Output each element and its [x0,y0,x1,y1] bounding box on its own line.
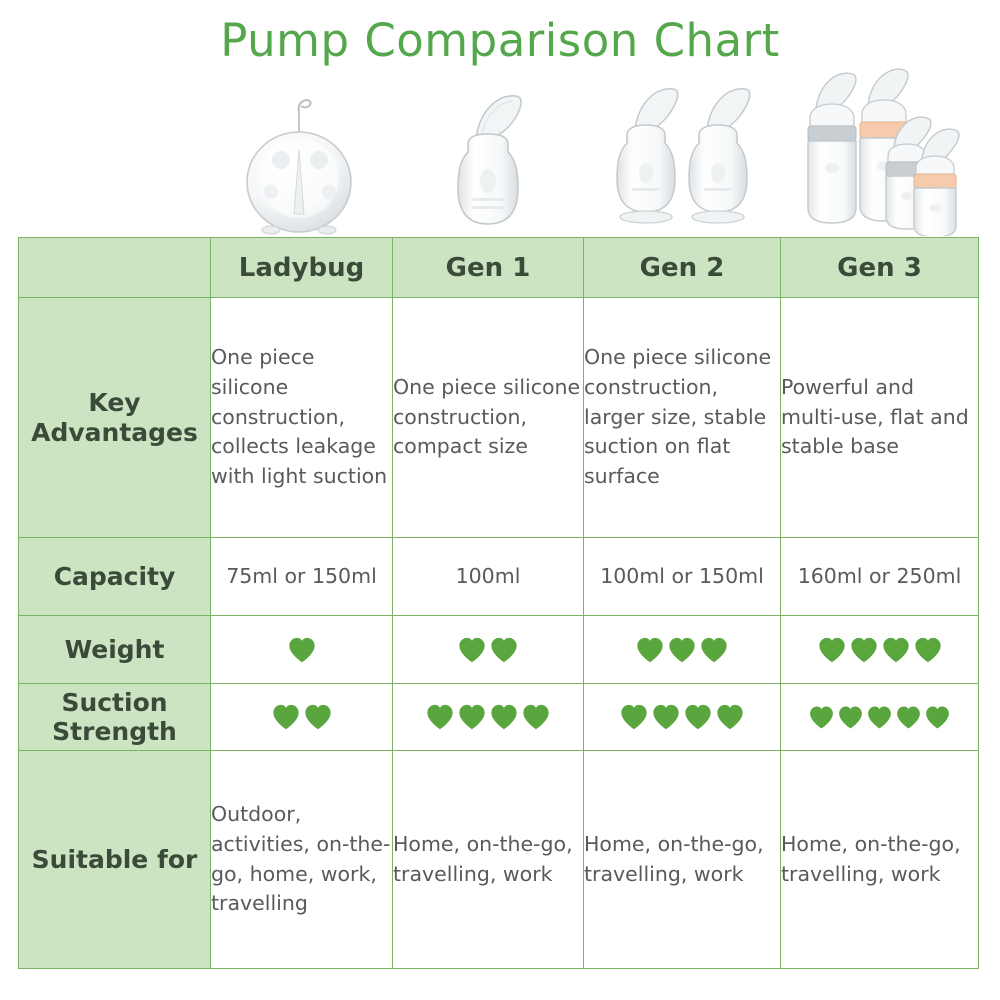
heart-icon [635,635,665,665]
heart-icon [715,702,745,732]
table-row-capacity: Capacity 75ml or 150ml 100ml 100ml or 15… [19,538,979,616]
cell-suction-gen3 [781,684,979,751]
header-gen3: Gen 3 [781,238,979,298]
cell-capacity-ladybug: 75ml or 150ml [211,538,393,616]
header-blank-corner [19,238,211,298]
heart-icon [913,635,943,665]
product-image-gen1 [392,66,583,236]
row-label-suction-strength: Suction Strength [19,684,211,751]
heart-icon [457,702,487,732]
cell-weight-gen3 [781,616,979,684]
cell-key-advantages-gen2: One piece silicone construction, larger … [584,298,781,538]
table-header-row: Ladybug Gen 1 Gen 2 Gen 3 [19,238,979,298]
cell-suction-gen1 [393,684,584,751]
heart-icon [271,702,301,732]
heart-icon [924,704,951,731]
row-label-weight: Weight [19,616,211,684]
row-label-suitable-for: Suitable for [19,751,211,969]
cell-suitable-gen1: Home, on-the-go, travelling, work [393,751,584,969]
heart-icon [303,702,333,732]
cell-weight-gen2 [584,616,781,684]
cell-weight-gen1 [393,616,584,684]
header-ladybug: Ladybug [211,238,393,298]
heart-icon [651,702,681,732]
heart-icon [817,635,847,665]
product-image-ladybug [210,66,392,236]
product-image-strip [18,66,978,236]
heart-icon [683,702,713,732]
heart-icon [699,635,729,665]
cell-capacity-gen2: 100ml or 150ml [584,538,781,616]
product-image-gen2 [583,66,780,236]
heart-icon [895,704,922,731]
cell-weight-ladybug [211,616,393,684]
product-image-gen3 [780,66,978,236]
heart-icon [808,704,835,731]
cell-key-advantages-gen3: Powerful and multi-use, flat and stable … [781,298,979,538]
heart-icon [489,702,519,732]
heart-icon [521,702,551,732]
page-title: Pump Comparison Chart [0,14,1000,67]
header-gen2: Gen 2 [584,238,781,298]
heart-icon [489,635,519,665]
pump-comparison-page: Pump Comparison Chart [0,0,1000,1000]
heart-icon [287,635,317,665]
heart-icon [849,635,879,665]
heart-icon [457,635,487,665]
cell-suitable-gen3: Home, on-the-go, travelling, work [781,751,979,969]
heart-icon [619,702,649,732]
row-label-capacity: Capacity [19,538,211,616]
table-row-weight: Weight [19,616,979,684]
table-row-suitable-for: Suitable for Outdoor, activities, on-the… [19,751,979,969]
heart-icon [667,635,697,665]
header-gen1: Gen 1 [393,238,584,298]
table-row-key-advantages: Key Advantages One piece silicone constr… [19,298,979,538]
comparison-table: Ladybug Gen 1 Gen 2 Gen 3 Key Advantages… [18,237,979,969]
cell-capacity-gen3: 160ml or 250ml [781,538,979,616]
table-row-suction-strength: Suction Strength [19,684,979,751]
heart-icon [837,704,864,731]
cell-key-advantages-gen1: One piece silicone construction, compact… [393,298,584,538]
cell-suction-gen2 [584,684,781,751]
cell-capacity-gen1: 100ml [393,538,584,616]
cell-suction-ladybug [211,684,393,751]
heart-icon [881,635,911,665]
cell-key-advantages-ladybug: One piece silicone construction, collect… [211,298,393,538]
cell-suitable-ladybug: Outdoor, activities, on-the-go, home, wo… [211,751,393,969]
heart-icon [866,704,893,731]
heart-icon [425,702,455,732]
cell-suitable-gen2: Home, on-the-go, travelling, work [584,751,781,969]
row-label-key-advantages: Key Advantages [19,298,211,538]
